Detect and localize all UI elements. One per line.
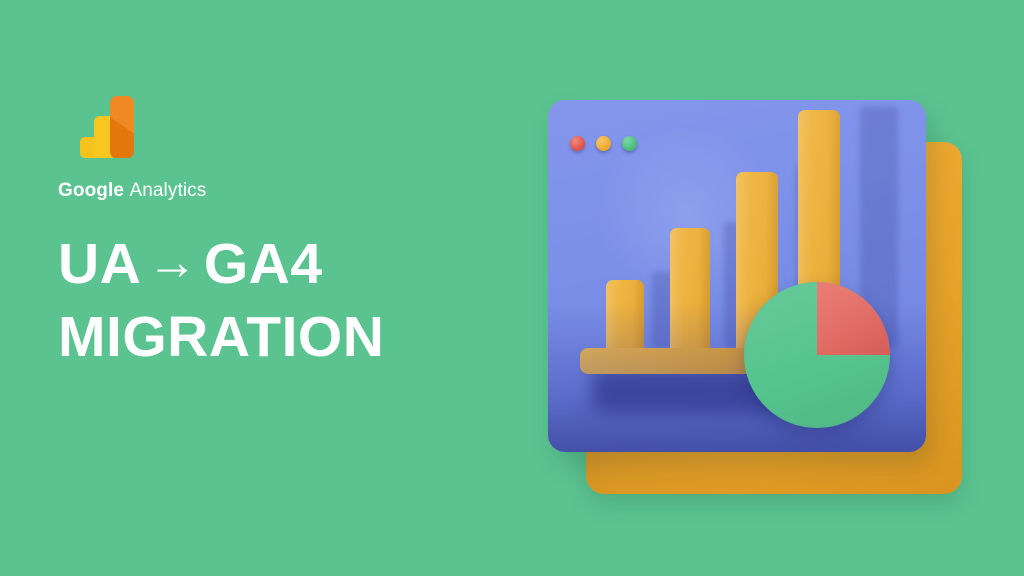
headline-ua: UA: [58, 232, 141, 296]
chart-baseline: [580, 348, 760, 374]
google-analytics-logo: [80, 96, 146, 158]
wordmark-google: Google: [58, 180, 124, 201]
page-title: UA→GA4 MIGRATION: [58, 228, 488, 374]
bar-1: [606, 280, 644, 358]
headline-ga4: GA4: [204, 232, 323, 296]
bar-2: [670, 228, 710, 358]
arrow-right-icon: →: [141, 234, 204, 290]
headline-line-2: MIGRATION: [58, 301, 488, 374]
analytics-dashboard-illustration: [548, 100, 968, 500]
wordmark-analytics: Analytics: [129, 180, 206, 201]
pie-chart: [744, 282, 890, 428]
dashboard-window-card: [548, 100, 926, 452]
headline-line-1: UA→GA4: [58, 228, 488, 301]
slide-canvas: Google Analytics UA→GA4 MIGRATION: [0, 0, 1024, 576]
logo-bar-tall: [110, 96, 134, 158]
headline-block: Google Analytics UA→GA4 MIGRATION: [58, 96, 488, 374]
brand-wordmark: Google Analytics: [58, 180, 488, 202]
